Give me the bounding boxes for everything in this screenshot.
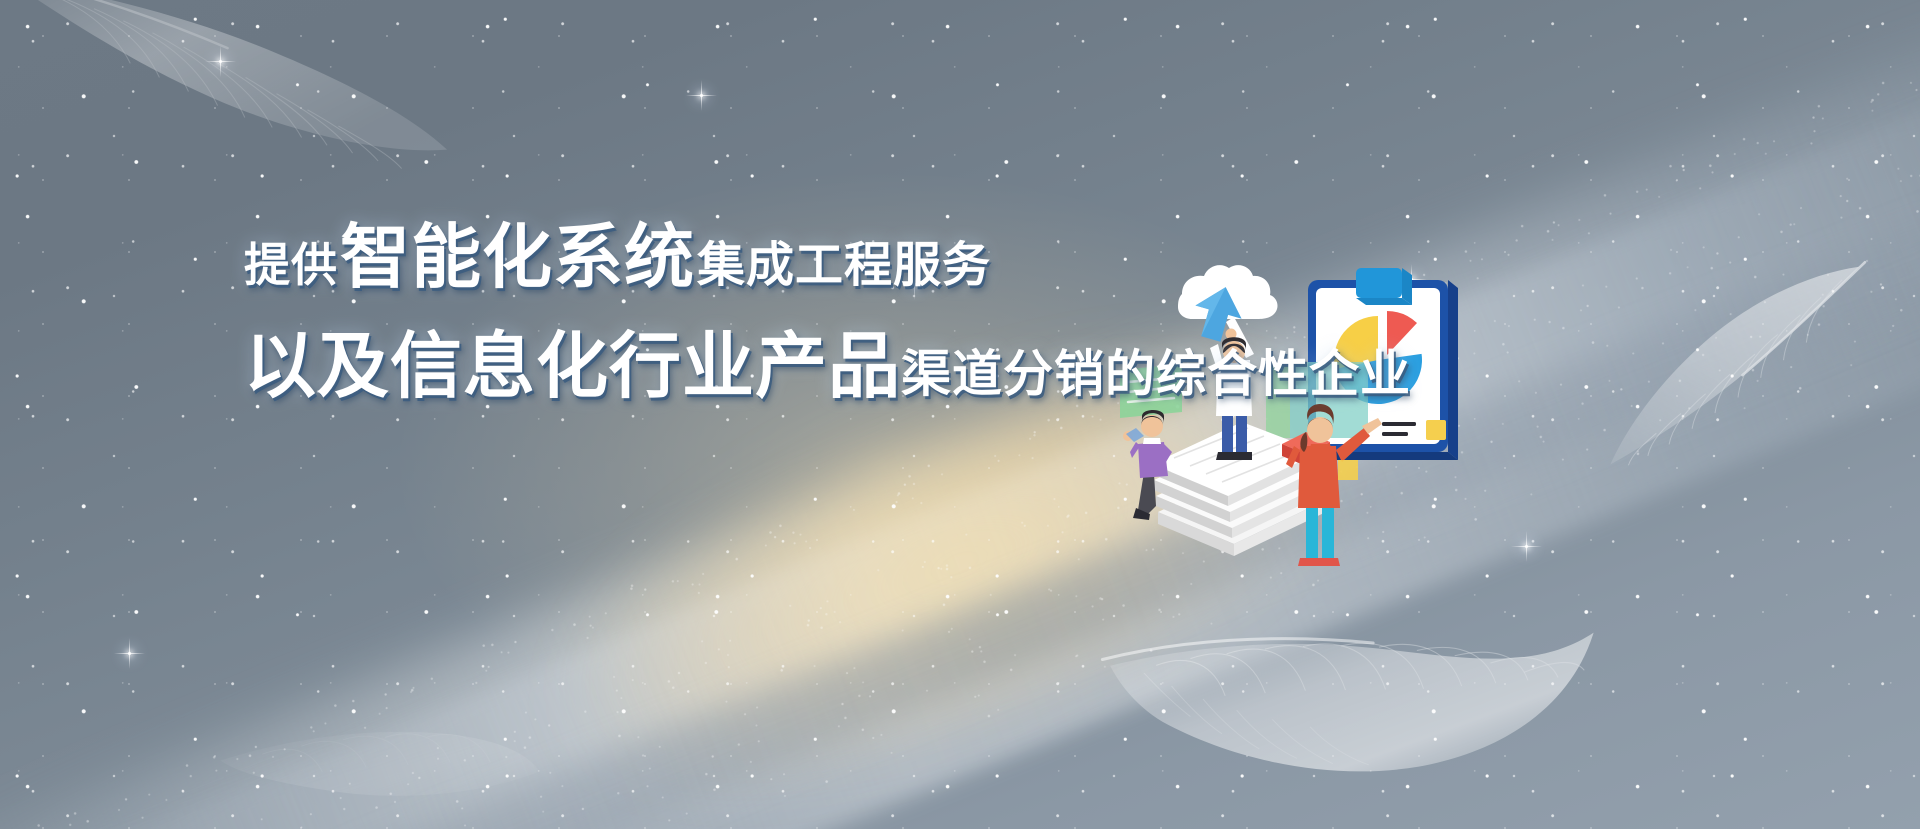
headline-line2-prefix: 以及 bbox=[244, 330, 390, 402]
star-layer-mid bbox=[0, 0, 1920, 829]
headline-line1-prefix: 提供 bbox=[244, 242, 338, 288]
star-layer-bright bbox=[0, 0, 1920, 829]
headline-line2-emphasis: 信息化行业产品 bbox=[390, 330, 901, 402]
sparkle-star-icon bbox=[700, 94, 703, 97]
starfield bbox=[0, 0, 1920, 829]
star-layer-faint bbox=[0, 0, 1920, 829]
sparkle-star-icon bbox=[128, 652, 131, 655]
headline-block: 提供智能化系统集成工程服务 以及信息化行业产品渠道分销的综合性企业 bbox=[244, 222, 1304, 402]
feather-icon-top-left bbox=[0, 0, 467, 192]
sparkle-star-icon bbox=[219, 60, 222, 63]
feather-icon-middle-right bbox=[1591, 247, 1920, 489]
galaxy-band bbox=[0, 0, 1920, 829]
headline-line2-suffix: 渠道分销的综合性企业 bbox=[901, 349, 1411, 399]
galaxy-core-glow bbox=[0, 0, 1920, 829]
headline-line-2: 以及信息化行业产品渠道分销的综合性企业 bbox=[244, 330, 1304, 402]
galaxy-dust-lane bbox=[0, 20, 1920, 829]
headline-line1-emphasis: 智能化系统 bbox=[340, 222, 695, 292]
galaxy-speckles bbox=[0, 0, 1920, 829]
feather-icon-bottom-left bbox=[208, 683, 552, 829]
headline-line1-suffix: 集成工程服务 bbox=[697, 241, 991, 289]
hero-banner: 提供智能化系统集成工程服务 以及信息化行业产品渠道分销的综合性企业 bbox=[0, 0, 1920, 829]
headline-line-1: 提供智能化系统集成工程服务 bbox=[244, 222, 1304, 292]
feather-icon-bottom-right bbox=[1081, 579, 1609, 827]
sparkle-star-icon bbox=[1525, 545, 1528, 548]
